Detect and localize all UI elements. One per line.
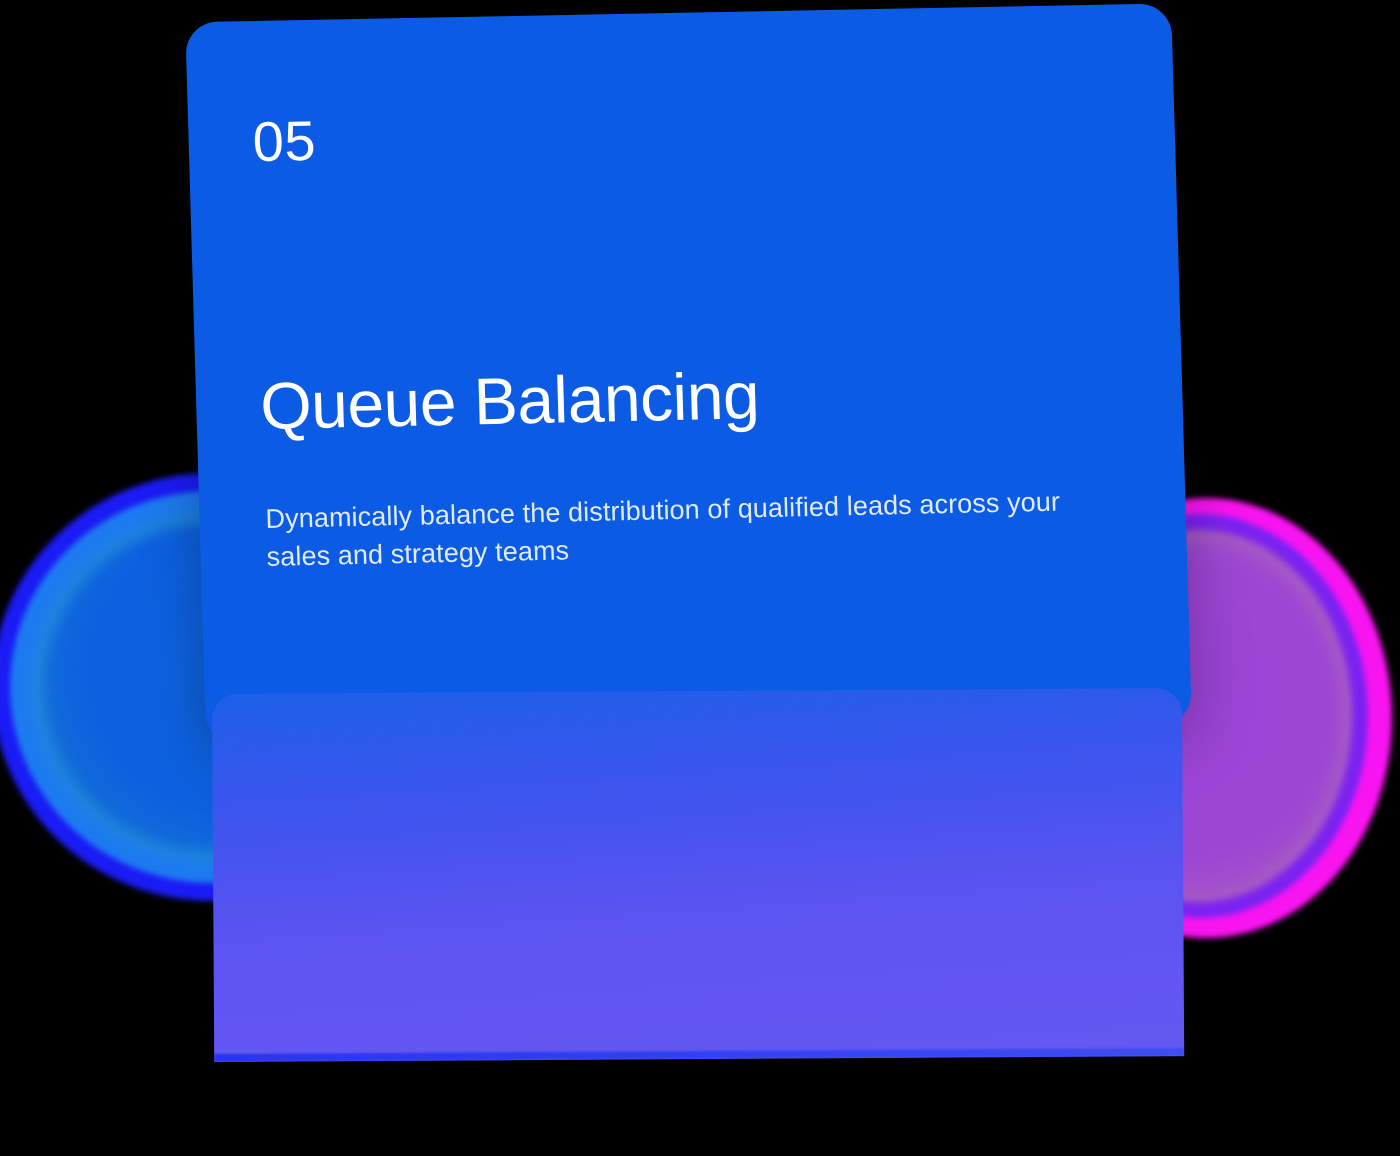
step-number: 05 — [252, 95, 1113, 170]
slide-stage: 05 Queue Balancing Dynamically balance t… — [0, 0, 1400, 1156]
gradient-panel[interactable] — [212, 688, 1184, 1062]
feature-card[interactable]: 05 Queue Balancing Dynamically balance t… — [185, 3, 1192, 744]
card-description: Dynamically balance the distribution of … — [265, 482, 1067, 576]
page-title: Queue Balancing — [259, 361, 760, 441]
feature-card-content: 05 Queue Balancing Dynamically balance t… — [185, 2, 1192, 745]
